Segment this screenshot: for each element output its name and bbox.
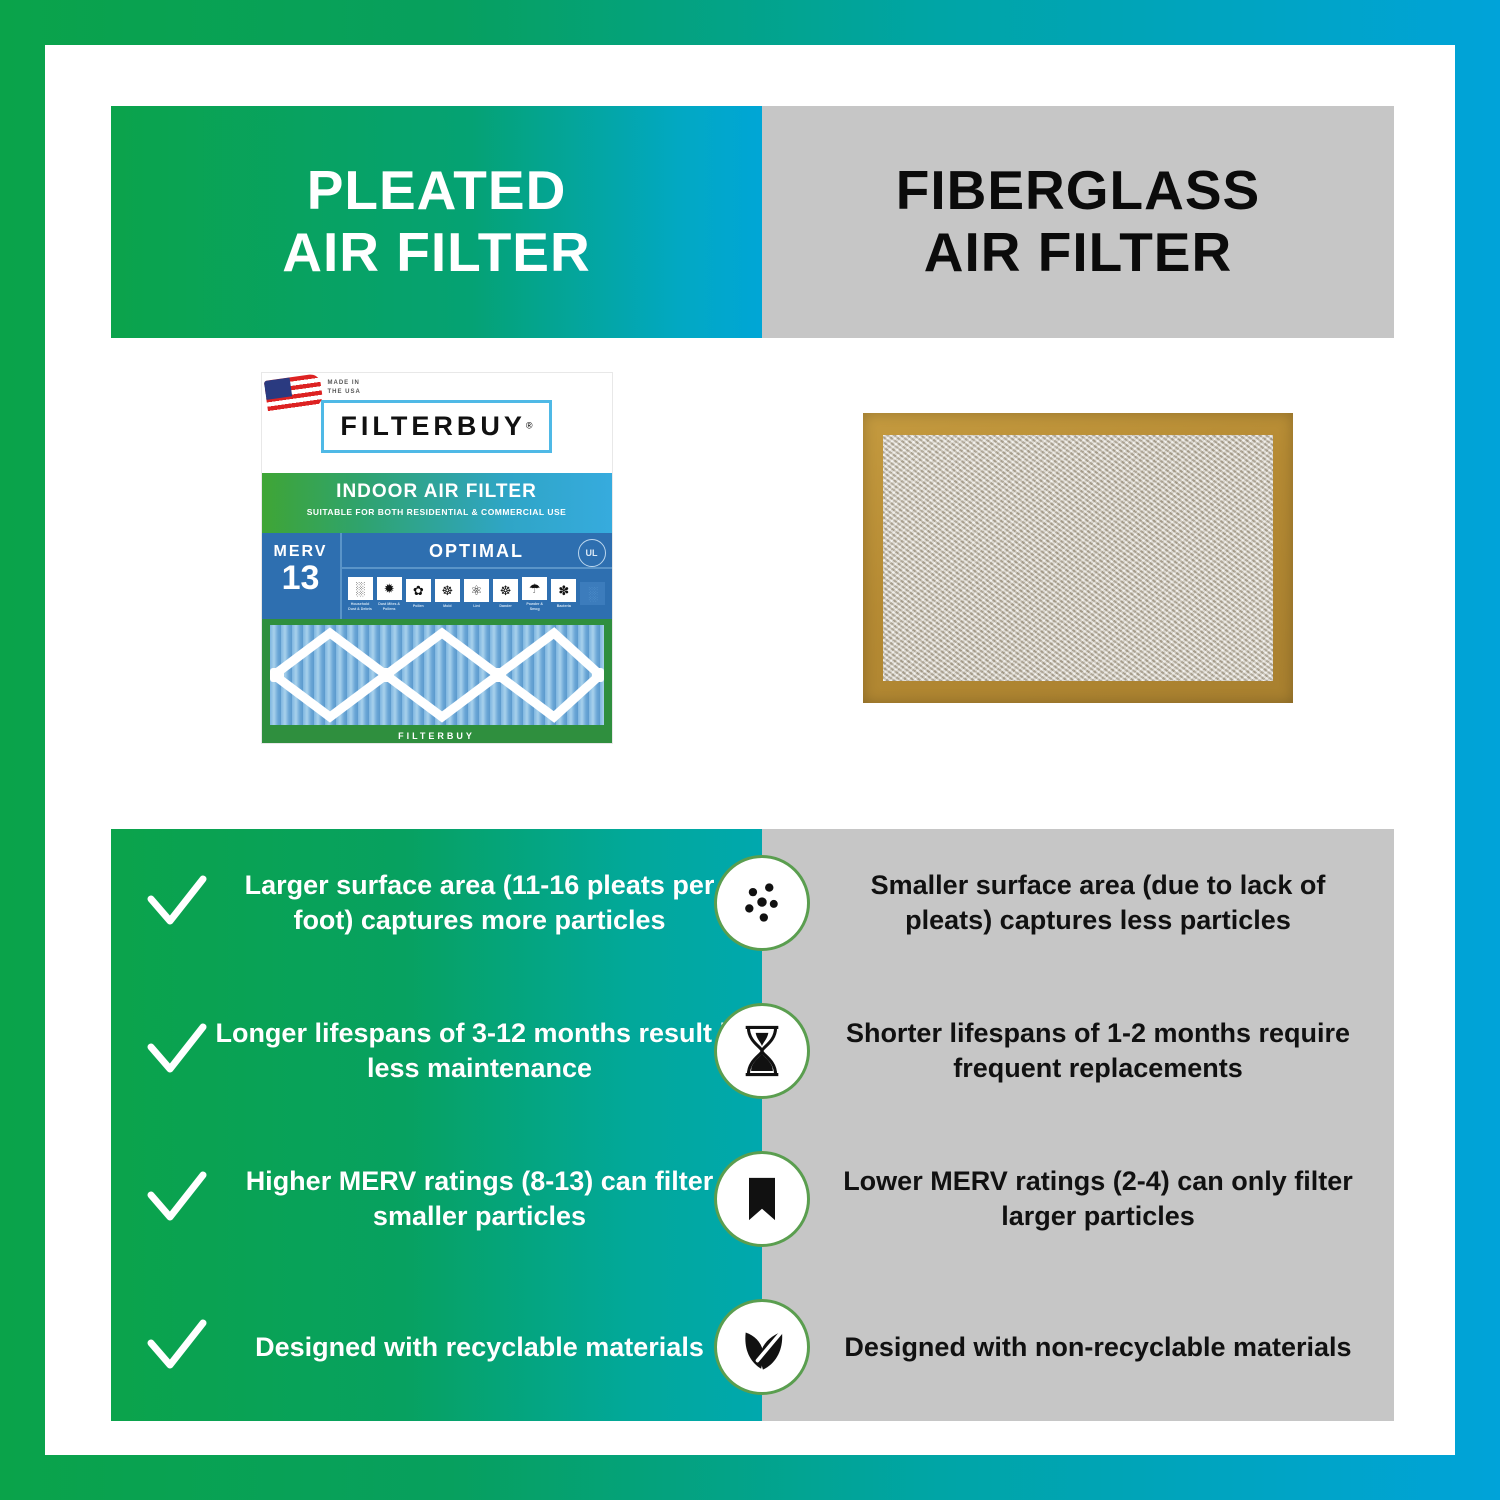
check-icon (145, 1167, 209, 1231)
feature-glyph-icon: ☂ (522, 577, 547, 600)
comparison-row-pleated: Designed with recyclable materials (111, 1273, 762, 1421)
feature-caption: Dust Mites & Pollens (377, 602, 402, 611)
comparison-row: Designed with recyclable materialsDesign… (111, 1273, 1394, 1421)
package-feature-icon: ☸Dander (493, 579, 518, 608)
particles-icon (714, 855, 810, 951)
check-icon (145, 1019, 209, 1083)
header-pleated-line1: PLEATED (282, 160, 590, 222)
feature-caption: Bacteria (551, 604, 576, 608)
package-banner-title: INDOOR AIR FILTER (262, 481, 612, 503)
hourglass-icon (714, 1003, 810, 1099)
feature-glyph-icon: ☸ (493, 579, 518, 602)
feature-caption: Dander (493, 604, 518, 608)
comparison-panel: Larger surface area (11-16 pleats per fo… (111, 829, 1394, 1421)
header-pleated-title: PLEATED AIR FILTER (282, 160, 590, 283)
comparison-row-pleated: Longer lifespans of 3-12 months result i… (111, 977, 762, 1125)
check-icon (145, 871, 209, 935)
check-icon (145, 1315, 209, 1379)
header-band: PLEATED AIR FILTER FIBERGLASS AIR FILTER (111, 106, 1394, 338)
package-feature-icon: ☸Mold (435, 579, 460, 608)
package-bottom-brand: FILTERBUY (262, 731, 612, 741)
package-feature-icon: ✹Dust Mites & Pollens (377, 577, 402, 611)
comparison-fiberglass-text: Smaller surface area (due to lack of ple… (836, 868, 1360, 937)
package-spec-band: MERV 13 OPTIMAL ░Household Dust & Debris… (262, 533, 612, 619)
usa-flag-icon (263, 373, 323, 416)
package-feature-icon: ✿Pollen (406, 579, 431, 608)
brand-logo-box: FILTERBUY® (321, 400, 551, 453)
feature-caption: Pollen (406, 604, 431, 608)
header-fiberglass-line1: FIBERGLASS (896, 160, 1260, 222)
feature-caption: Lint (464, 604, 489, 608)
fiberglass-product-cell (762, 338, 1394, 778)
feature-glyph-icon: ✹ (377, 577, 402, 600)
package-feature-icon: ░Household Dust & Debris (348, 577, 373, 611)
comparison-row-fiberglass: Designed with non-recyclable materials (762, 1273, 1394, 1421)
ul-certification-icon: UL (578, 539, 606, 567)
product-image-row: MADE IN THE USA FILTERBUY® INDOOR AIR FI… (111, 338, 1394, 778)
fiberglass-media-texture (883, 435, 1273, 681)
feature-glyph-icon: ✽ (551, 579, 576, 602)
comparison-row: Higher MERV ratings (8-13) can filter sm… (111, 1125, 1394, 1273)
bookmark-icon (714, 1151, 810, 1247)
package-feature-icon: ⚛Lint (464, 579, 489, 608)
registered-trademark-icon: ® (526, 420, 533, 430)
package-feature-icon: ☂Powder & Smog (522, 577, 547, 611)
comparison-pleated-text: Larger surface area (11-16 pleats per fo… (215, 868, 744, 937)
comparison-row-fiberglass: Shorter lifespans of 1-2 months require … (762, 977, 1394, 1125)
package-feature-icons: ░Household Dust & Debris✹Dust Mites & Po… (342, 569, 612, 619)
pleated-product-cell: MADE IN THE USA FILTERBUY® INDOOR AIR FI… (111, 338, 762, 778)
comparison-row: Larger surface area (11-16 pleats per fo… (111, 829, 1394, 977)
wire-support-diamonds (270, 625, 604, 725)
feature-caption: Powder & Smog (522, 602, 547, 611)
package-filter-media-artwork: FILTERBUY (262, 619, 612, 743)
comparison-row-pleated: Larger surface area (11-16 pleats per fo… (111, 829, 762, 977)
comparison-pleated-text: Designed with recyclable materials (215, 1330, 744, 1365)
package-feature-icon: ✽Bacteria (551, 579, 576, 608)
header-fiberglass-line2: AIR FILTER (896, 222, 1260, 284)
content-card: PLEATED AIR FILTER FIBERGLASS AIR FILTER (45, 45, 1455, 1455)
merv-value: 13 (262, 561, 340, 595)
header-fiberglass: FIBERGLASS AIR FILTER (762, 106, 1394, 338)
package-brand-header: MADE IN THE USA FILTERBUY® (262, 373, 612, 473)
comparison-row: Longer lifespans of 3-12 months result i… (111, 977, 1394, 1125)
comparison-pleated-text: Longer lifespans of 3-12 months result i… (215, 1016, 744, 1085)
comparison-pleated-text: Higher MERV ratings (8-13) can filter sm… (215, 1164, 744, 1233)
comparison-fiberglass-text: Lower MERV ratings (2-4) can only filter… (836, 1164, 1360, 1233)
pleat-texture (270, 625, 604, 725)
header-fiberglass-title: FIBERGLASS AIR FILTER (896, 160, 1260, 283)
header-pleated-line2: AIR FILTER (282, 222, 590, 284)
brand-name: FILTERBUY (340, 411, 526, 441)
package-feature-icon: ░ (580, 582, 605, 607)
comparison-fiberglass-text: Designed with non-recyclable materials (836, 1330, 1360, 1365)
feature-caption: Household Dust & Debris (348, 602, 373, 611)
leaf-icon (714, 1299, 810, 1395)
comparison-row-pleated: Higher MERV ratings (8-13) can filter sm… (111, 1125, 762, 1273)
feature-glyph-icon: ✿ (406, 579, 431, 602)
made-in-usa-label: MADE IN THE USA (328, 379, 361, 397)
feature-glyph-icon: ░ (580, 582, 605, 605)
outer-gradient-frame: PLEATED AIR FILTER FIBERGLASS AIR FILTER (0, 0, 1500, 1500)
comparison-fiberglass-text: Shorter lifespans of 1-2 months require … (836, 1016, 1360, 1085)
feature-glyph-icon: ⚛ (464, 579, 489, 602)
feature-caption: Mold (435, 604, 460, 608)
comparison-row-fiberglass: Lower MERV ratings (2-4) can only filter… (762, 1125, 1394, 1273)
merv-rating-block: MERV 13 (262, 533, 342, 619)
comparison-row-fiberglass: Smaller surface area (due to lack of ple… (762, 829, 1394, 977)
feature-glyph-icon: ☸ (435, 579, 460, 602)
fiberglass-filter-image (863, 413, 1293, 703)
header-pleated: PLEATED AIR FILTER (111, 106, 762, 338)
package-grade-block: OPTIMAL ░Household Dust & Debris✹Dust Mi… (342, 533, 612, 619)
feature-glyph-icon: ░ (348, 577, 373, 600)
package-banner: INDOOR AIR FILTER SUITABLE FOR BOTH RESI… (262, 473, 612, 533)
pleated-filter-package-image: MADE IN THE USA FILTERBUY® INDOOR AIR FI… (262, 373, 612, 743)
package-banner-subtitle: SUITABLE FOR BOTH RESIDENTIAL & COMMERCI… (262, 507, 612, 517)
package-grade-label: OPTIMAL (342, 533, 612, 569)
